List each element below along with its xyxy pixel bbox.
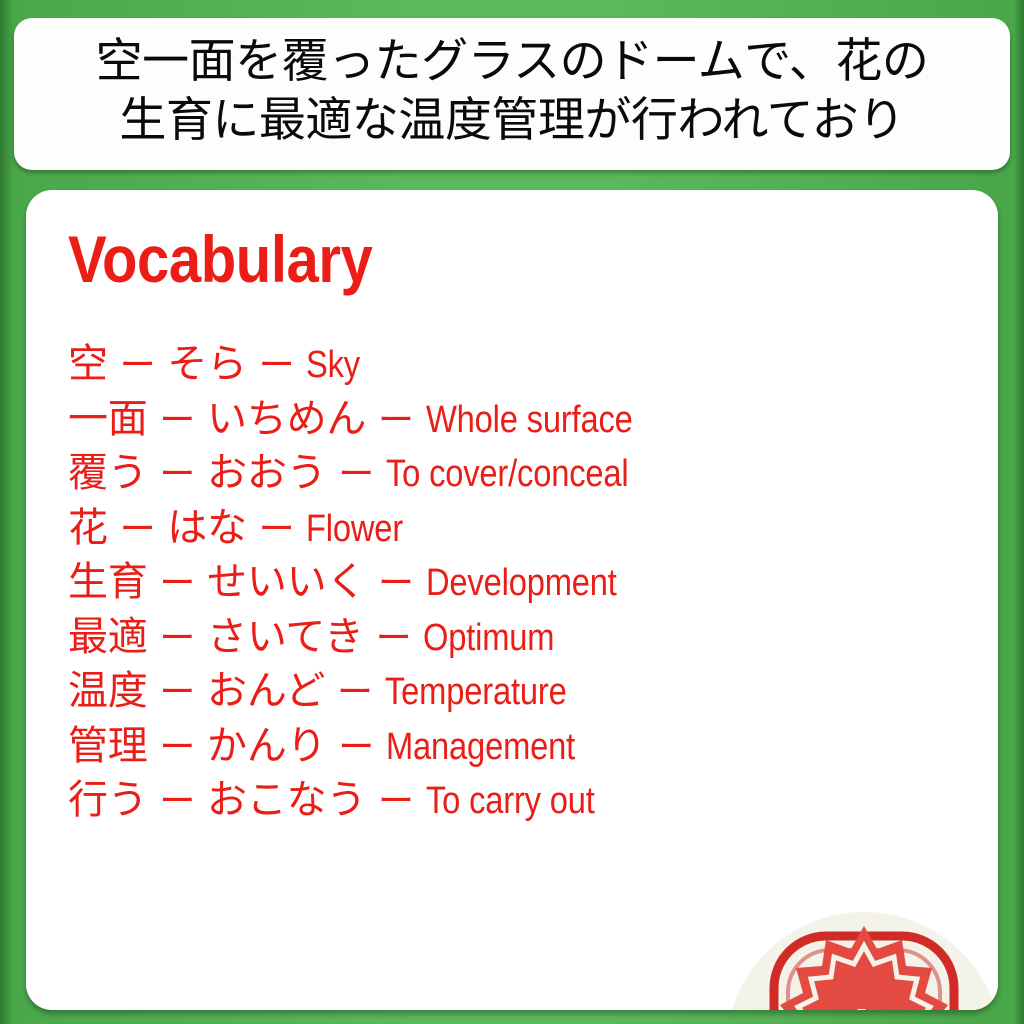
vocabulary-entry: 花 ー はな ー Flower [68, 502, 988, 557]
vocabulary-entry-kanji: 生育 [68, 560, 148, 604]
vocabulary-entry-kanji: 花 [68, 506, 108, 550]
page-root: 空一面を覆ったグラスのドームで、花の 生育に最適な温度管理が行われており Voc… [0, 0, 1024, 1024]
vocabulary-entry-separator: ー [148, 562, 207, 603]
vocabulary-entry-meaning: Flower [306, 503, 403, 557]
vocabulary-entry-separator: ー [366, 780, 425, 821]
vocabulary-entry: 行う ー おこなう ー To carry out [68, 774, 988, 829]
brand-logo: カ ゲーム と 漢字 [726, 912, 998, 1010]
vocabulary-entry-separator: ー [325, 671, 384, 712]
vocabulary-entry-separator: ー [108, 508, 167, 549]
vocabulary-entry-kanji: 覆う [68, 451, 148, 495]
vocabulary-entry-meaning: To carry out [426, 775, 595, 829]
vocabulary-entry-meaning: Development [426, 557, 617, 611]
vocabulary-entry: 一面 ー いちめん ー Whole surface [68, 393, 988, 448]
vocabulary-title: Vocabulary [68, 226, 372, 292]
vocabulary-entry: 管理 ー かんり ー Management [68, 720, 988, 775]
vocabulary-entry-kanji: 最適 [68, 615, 148, 659]
vocabulary-entry-reading: おんど [207, 669, 325, 713]
vocabulary-entry: 空 ー そら ー Sky [68, 338, 988, 393]
logo-mark-icon: カ ゲーム と 漢字 [726, 912, 998, 1010]
vocabulary-entry-separator: ー [247, 344, 306, 385]
vocabulary-entry-reading: おおう [207, 451, 326, 495]
vocabulary-entry-kanji: 温度 [68, 669, 148, 713]
vocabulary-entry-separator: ー [148, 726, 207, 767]
vocabulary-entry-separator: ー [247, 508, 306, 549]
vocabulary-entry-reading: せいいく [207, 560, 366, 604]
vocabulary-entry: 生育 ー せいいく ー Development [68, 556, 988, 611]
vocabulary-entry-meaning: To cover/conceal [386, 448, 628, 502]
vocabulary-entry-meaning: Whole surface [426, 394, 633, 448]
vocabulary-entry-separator: ー [364, 617, 423, 658]
vocabulary-entry-separator: ー [148, 617, 207, 658]
vocabulary-entry: 温度 ー おんど ー Temperature [68, 665, 988, 720]
vocabulary-entry-separator: ー [148, 780, 207, 821]
vocabulary-entry-separator: ー [366, 399, 425, 440]
logo-star-character: カ [833, 1001, 895, 1010]
vocabulary-entry-meaning: Optimum [423, 612, 554, 666]
vocabulary-panel: Vocabulary 空 ー そら ー Sky一面 ー いちめん ー Whole… [26, 190, 998, 1010]
vocabulary-entry-reading: おこなう [207, 778, 366, 822]
vocabulary-entry-separator: ー [148, 453, 207, 494]
vocabulary-entry-reading: いちめん [207, 397, 366, 441]
vocabulary-entry-meaning: Temperature [385, 666, 567, 720]
vocabulary-entry-separator: ー [108, 344, 167, 385]
vocabulary-entry-kanji: 一面 [68, 397, 148, 441]
vocabulary-entry-reading: そら [167, 342, 247, 386]
vocabulary-entry: 最適 ー さいてき ー Optimum [68, 611, 988, 666]
vocabulary-entry-reading: さいてき [207, 615, 364, 659]
vocabulary-list: 空 ー そら ー Sky一面 ー いちめん ー Whole surface覆う … [68, 338, 988, 829]
vocabulary-entry-separator: ー [148, 399, 207, 440]
vocabulary-entry-meaning: Management [386, 721, 575, 775]
vocabulary-entry-separator: ー [148, 671, 207, 712]
vocabulary-entry-separator: ー [326, 726, 385, 767]
caption-text: 空一面を覆ったグラスのドームで、花の 生育に最適な温度管理が行われており [96, 32, 929, 150]
vocabulary-entry-reading: かんり [207, 724, 326, 768]
vocabulary-entry-separator: ー [366, 562, 425, 603]
vocabulary-entry-kanji: 空 [68, 342, 108, 386]
vocabulary-entry: 覆う ー おおう ー To cover/conceal [68, 447, 988, 502]
caption-panel: 空一面を覆ったグラスのドームで、花の 生育に最適な温度管理が行われており [14, 18, 1010, 170]
vocabulary-entry-meaning: Sky [306, 339, 360, 393]
vocabulary-entry-reading: はな [167, 506, 247, 550]
vocabulary-entry-separator: ー [326, 453, 385, 494]
vocabulary-entry-kanji: 行う [68, 778, 148, 822]
vocabulary-entry-kanji: 管理 [68, 724, 148, 768]
